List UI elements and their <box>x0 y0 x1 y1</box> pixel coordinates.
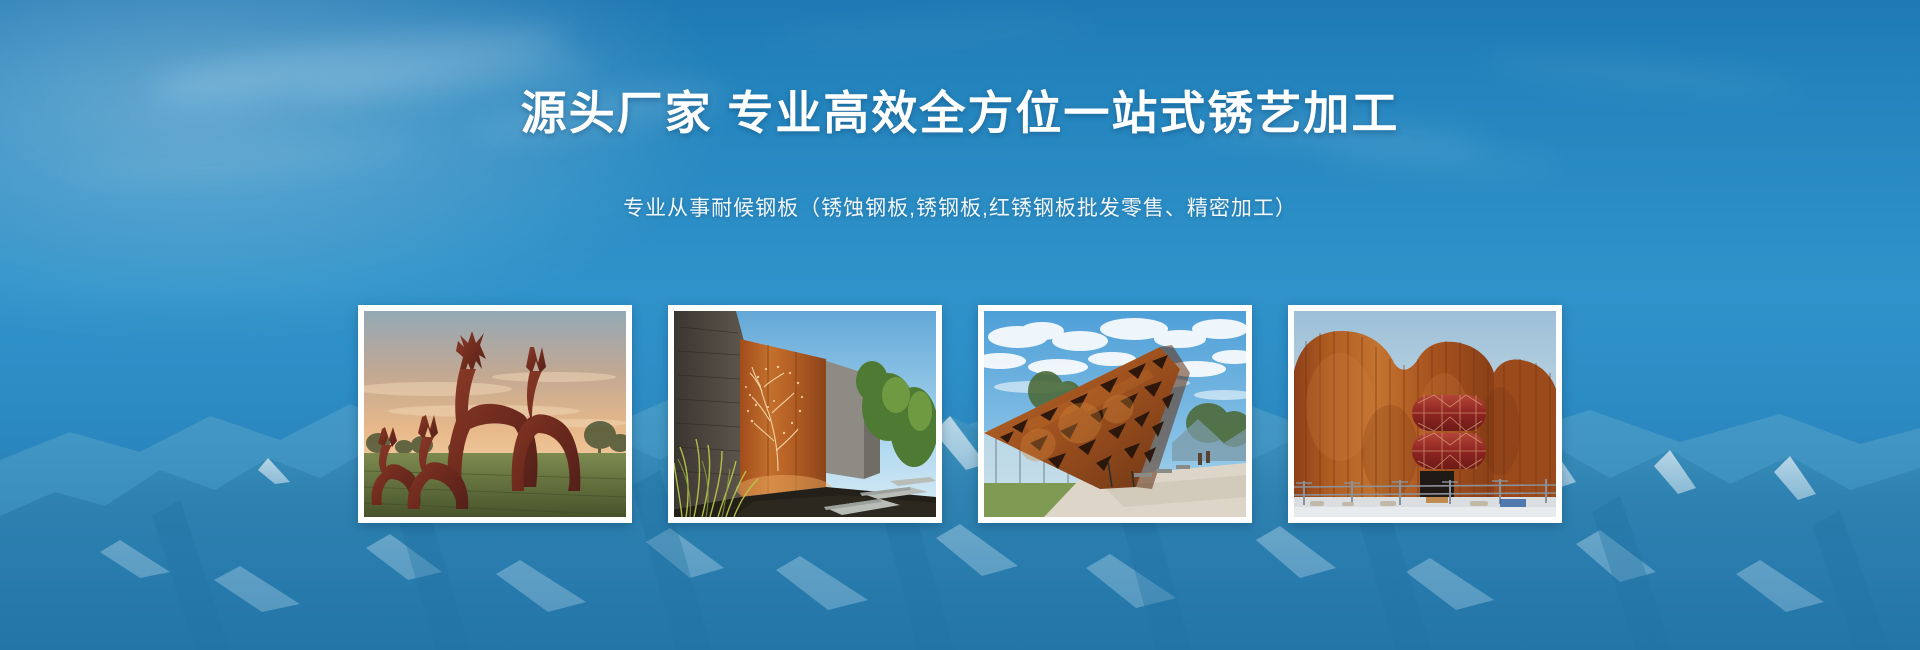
product-image-gallery <box>0 305 1920 523</box>
photo-corten-curved-facade <box>1294 311 1556 517</box>
gallery-item-corten-triangular-pavilion[interactable] <box>978 305 1252 523</box>
photo-corten-garden-wall <box>674 311 936 517</box>
cloud-wisp <box>60 137 421 188</box>
cloud-wisp <box>760 18 1100 50</box>
gallery-item-corten-deer-sculptures[interactable] <box>358 305 632 523</box>
banner-headline: 源头厂家 专业高效全方位一站式锈艺加工 <box>0 86 1920 141</box>
gallery-item-corten-curved-facade[interactable] <box>1288 305 1562 523</box>
banner-subheadline: 专业从事耐候钢板（锈蚀钢板,锈钢板,红锈钢板批发零售、精密加工） <box>0 195 1920 222</box>
photo-corten-deer-sculptures <box>364 311 626 517</box>
gallery-item-corten-garden-wall[interactable] <box>668 305 942 523</box>
photo-corten-triangular-pavilion <box>984 311 1246 517</box>
hero-banner: 源头厂家 专业高效全方位一站式锈艺加工 专业从事耐候钢板（锈蚀钢板,锈钢板,红锈… <box>0 0 1920 650</box>
cloud-wisp <box>1320 144 1561 179</box>
